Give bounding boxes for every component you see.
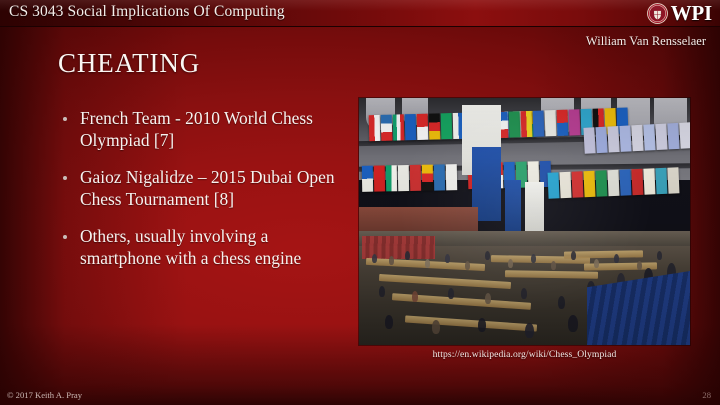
footer-page-number: 28 — [702, 390, 711, 400]
bullet-item: Others, usually involving a smartphone w… — [58, 226, 350, 270]
wpi-logo: WPI — [647, 1, 712, 25]
chess-olympiad-photo — [359, 98, 690, 345]
bullet-dot-icon — [63, 176, 67, 180]
bullet-item: Gaioz Nigalidze – 2015 Dubai Open Chess … — [58, 167, 350, 211]
bullet-list: French Team - 2010 World Chess Olympiad … — [58, 108, 350, 270]
wpi-wordmark: WPI — [671, 3, 712, 24]
bullet-dot-icon — [63, 235, 67, 239]
bullet-text: Gaioz Nigalidze – 2015 Dubai Open Chess … — [80, 167, 335, 209]
image-caption: https://en.wikipedia.org/wiki/Chess_Olym… — [359, 349, 690, 360]
slide-image — [359, 98, 690, 345]
bullet-item: French Team - 2010 World Chess Olympiad … — [58, 108, 350, 152]
bullet-text: French Team - 2010 World Chess Olympiad … — [80, 108, 313, 150]
slide-title: CHEATING — [58, 48, 200, 79]
bullet-text: Others, usually involving a smartphone w… — [80, 226, 301, 268]
author-name: William Van Rensselaer — [586, 34, 706, 49]
presentation-slide: CS 3043 Social Implications Of Computing… — [0, 0, 720, 405]
slide-header-bar: CS 3043 Social Implications Of Computing… — [0, 0, 720, 27]
bullet-dot-icon — [63, 117, 67, 121]
footer-copyright: © 2017 Keith A. Pray — [7, 390, 82, 400]
course-title: CS 3043 Social Implications Of Computing — [9, 3, 285, 21]
wpi-seal-icon — [647, 3, 668, 24]
photo-haze — [359, 98, 690, 345]
